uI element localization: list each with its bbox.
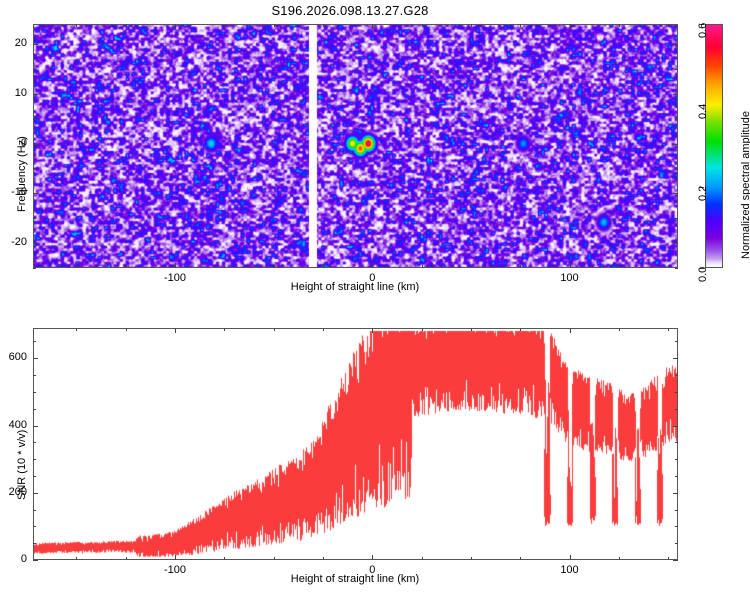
snr-xtick	[619, 557, 620, 560]
snr-ytick	[675, 510, 678, 511]
spectrogram-xtick	[274, 265, 275, 268]
snr-ytick	[673, 358, 678, 359]
spectrogram-xtick	[570, 263, 571, 268]
snr-xtick	[175, 555, 176, 560]
snr-ylabel: SNR (10 * v/v)	[16, 430, 28, 500]
snr-xtick	[76, 557, 77, 560]
spectrogram-ytick	[673, 193, 678, 194]
snr-ytick	[33, 560, 38, 561]
spectrogram-image	[34, 25, 677, 267]
spectrogram-ytick-label: 20	[0, 37, 27, 49]
spectrogram-xtick	[619, 24, 620, 27]
spectrogram-ytick-label: -20	[0, 236, 27, 248]
spectrogram-ytick	[675, 218, 678, 219]
snr-ytick	[675, 476, 678, 477]
snr-xtick	[422, 328, 423, 331]
spectrogram-ytick	[673, 94, 678, 95]
spectrogram-ytick	[33, 44, 38, 45]
snr-ytick	[33, 510, 36, 511]
snr-xtick	[224, 557, 225, 560]
snr-xtick	[323, 328, 324, 331]
snr-ytick-label: 600	[0, 351, 27, 363]
spectrogram-xtick	[471, 24, 472, 27]
snr-ytick	[33, 476, 36, 477]
spectrogram-ytick	[675, 268, 678, 269]
snr-xtick	[570, 555, 571, 560]
snr-ytick	[33, 375, 36, 376]
spectrogram-xtick	[422, 265, 423, 268]
spectrogram-ytick	[33, 268, 36, 269]
snr-ytick-label: 0	[0, 553, 27, 565]
snr-ytick	[675, 442, 678, 443]
spectrogram-ytick	[33, 94, 38, 95]
spectrogram-ytick	[33, 168, 36, 169]
spectrogram-ytick	[33, 69, 36, 70]
snr-xlabel: Height of straight line (km)	[185, 573, 525, 585]
snr-plot-area	[33, 328, 678, 560]
snr-ytick	[675, 526, 678, 527]
colorbar-tick-label: 0.4	[697, 104, 709, 119]
snr-ytick	[33, 392, 36, 393]
spectrogram-ytick	[673, 44, 678, 45]
snr-xtick	[520, 328, 521, 331]
spectrogram-xtick	[570, 24, 571, 29]
figure-root: S196.2026.098.13.27.G28 -1000100-20-1001…	[0, 0, 750, 600]
snr-xtick	[668, 557, 669, 560]
spectrogram-ytick	[33, 144, 38, 145]
snr-ytick	[675, 543, 678, 544]
spectrogram-ytick	[33, 218, 36, 219]
snr-xtick	[668, 328, 669, 331]
spectrogram-xtick	[520, 265, 521, 268]
snr-ytick	[33, 459, 36, 460]
spectrogram-xtick	[126, 24, 127, 27]
snr-ytick	[673, 560, 678, 561]
snr-xtick	[323, 557, 324, 560]
snr-xtick	[76, 328, 77, 331]
spectrogram-ytick	[673, 243, 678, 244]
snr-xtick	[274, 557, 275, 560]
spectrogram-xtick	[126, 265, 127, 268]
spectrogram-xtick	[175, 263, 176, 268]
snr-ytick	[33, 442, 36, 443]
spectrogram-xtick	[76, 265, 77, 268]
snr-xtick	[372, 555, 373, 560]
spectrogram-xtick	[668, 265, 669, 268]
colorbar-tick-label: 0.6	[697, 23, 709, 38]
spectrogram-ytick	[675, 119, 678, 120]
snr-ytick	[673, 426, 678, 427]
spectrogram-ytick	[33, 193, 38, 194]
snr-xtick-label: 100	[540, 564, 600, 576]
spectrogram-xtick	[520, 24, 521, 27]
colorbar-tick-label: 0.2	[697, 185, 709, 200]
spectrogram-xtick	[372, 24, 373, 29]
spectrogram-xtick	[422, 24, 423, 27]
spectrogram-xtick	[175, 24, 176, 29]
spectrogram-xtick	[76, 24, 77, 27]
spectrogram-xtick	[323, 24, 324, 27]
spectrogram-plot-area	[33, 24, 678, 268]
snr-xtick	[619, 328, 620, 331]
snr-ytick	[33, 543, 36, 544]
snr-ytick	[673, 493, 678, 494]
spectrogram-xtick-label: 100	[540, 272, 600, 284]
snr-ytick	[675, 409, 678, 410]
snr-ytick	[33, 426, 38, 427]
snr-ytick	[675, 459, 678, 460]
snr-xtick	[471, 557, 472, 560]
snr-ytick-label: 400	[0, 419, 27, 431]
snr-ytick	[675, 392, 678, 393]
snr-ytick	[675, 341, 678, 342]
snr-xtick	[520, 557, 521, 560]
snr-xtick	[422, 557, 423, 560]
spectrogram-ytick	[675, 168, 678, 169]
snr-xtick	[224, 328, 225, 331]
colorbar-tick-label: 0.0	[697, 267, 709, 282]
snr-ytick	[33, 358, 38, 359]
snr-xtick	[372, 328, 373, 333]
snr-ytick	[33, 526, 36, 527]
snr-ytick	[33, 493, 38, 494]
snr-ytick	[33, 341, 36, 342]
snr-xtick	[126, 328, 127, 331]
snr-ytick	[675, 375, 678, 376]
snr-trace	[34, 329, 677, 559]
colorbar-gradient	[705, 24, 723, 268]
spectrogram-xtick	[471, 265, 472, 268]
snr-xtick	[126, 557, 127, 560]
snr-xtick	[570, 328, 571, 333]
snr-xtick	[274, 328, 275, 331]
spectrogram-xtick	[323, 265, 324, 268]
spectrogram-xtick	[372, 263, 373, 268]
spectrogram-ytick-label: 10	[0, 87, 27, 99]
snr-xtick	[175, 328, 176, 333]
spectrogram-ytick	[675, 69, 678, 70]
spectrogram-xlabel: Height of straight line (km)	[185, 281, 525, 293]
spectrogram-ytick	[33, 243, 38, 244]
spectrogram-ytick	[33, 119, 36, 120]
spectrogram-ylabel: Frequency (Hz)	[16, 136, 28, 212]
spectrogram-xtick	[668, 24, 669, 27]
spectrogram-xtick	[274, 24, 275, 27]
spectrogram-ytick	[673, 144, 678, 145]
snr-ytick	[33, 409, 36, 410]
figure-title: S196.2026.098.13.27.G28	[0, 3, 700, 18]
spectrogram-xtick	[619, 265, 620, 268]
spectrogram-xtick	[224, 265, 225, 268]
snr-xtick	[471, 328, 472, 331]
colorbar-label: Normalized spectral amplitude	[740, 111, 750, 259]
spectrogram-xtick	[224, 24, 225, 27]
